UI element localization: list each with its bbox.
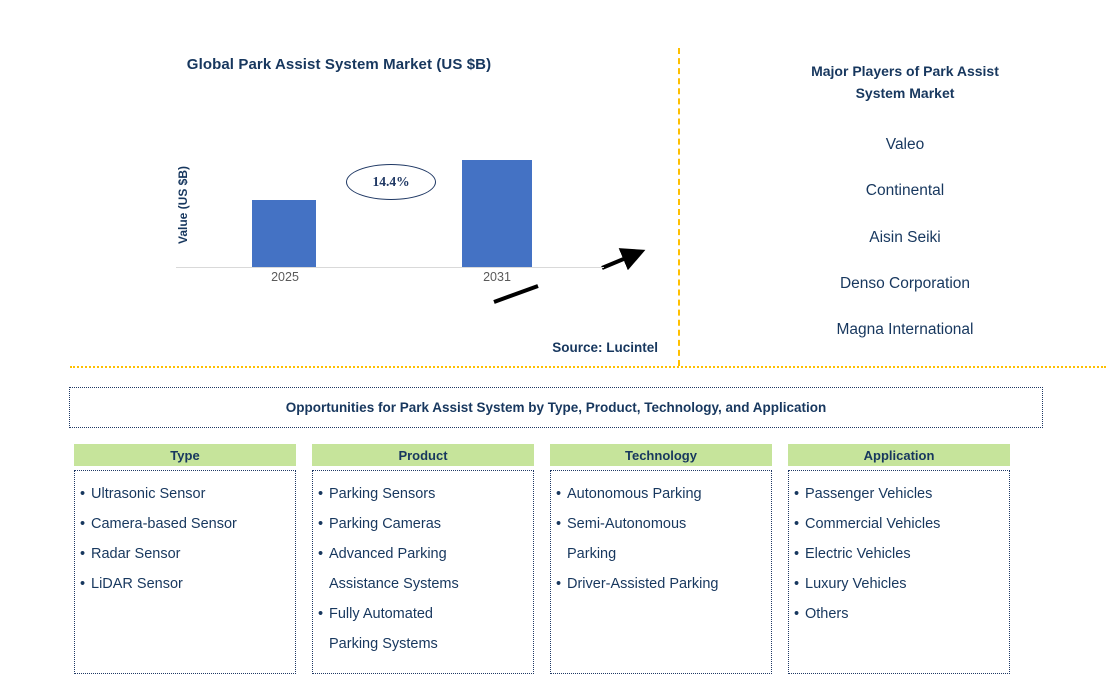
list-item: Semi-Autonomous Parking [555, 509, 767, 569]
list-item: Luxury Vehicles [793, 569, 1005, 599]
list-item: Electric Vehicles [793, 539, 1005, 569]
player-name: Magna International [710, 321, 1100, 339]
major-players-title-line-2: System Market [856, 85, 955, 101]
player-name: Denso Corporation [710, 275, 1100, 293]
list-item: Autonomous Parking [555, 479, 767, 509]
x-tick-label-2031: 2031 [452, 270, 542, 284]
major-players-title: Major Players of Park Assist System Mark… [780, 60, 1030, 104]
player-name: Aisin Seiki [710, 229, 1100, 247]
column-list-application: Passenger Vehicles Commercial Vehicles E… [793, 479, 1005, 629]
column-body-technology: Autonomous Parking Semi-Autonomous Parki… [550, 470, 772, 674]
column-header-product: Product [312, 444, 534, 466]
list-item: Camera-based Sensor [79, 509, 291, 539]
list-item: Fully Automated Parking Systems [317, 599, 529, 659]
opportunity-column-type: Type Ultrasonic Sensor Camera-based Sens… [74, 444, 296, 676]
list-item: Ultrasonic Sensor [79, 479, 291, 509]
column-body-product: Parking Sensors Parking Cameras Advanced… [312, 470, 534, 674]
column-header-application: Application [788, 444, 1010, 466]
list-item: Radar Sensor [79, 539, 291, 569]
opportunity-columns: Type Ultrasonic Sensor Camera-based Sens… [74, 444, 1018, 676]
opportunity-column-product: Product Parking Sensors Parking Cameras … [312, 444, 534, 676]
list-item: Parking Cameras [317, 509, 529, 539]
opportunity-column-application: Application Passenger Vehicles Commercia… [788, 444, 1010, 676]
list-item: Advanced Parking Assistance Systems [317, 539, 529, 599]
x-tick-label-2025: 2025 [240, 270, 330, 284]
horizontal-divider [70, 366, 1106, 368]
list-item: Passenger Vehicles [793, 479, 1005, 509]
column-body-type: Ultrasonic Sensor Camera-based Sensor Ra… [74, 470, 296, 674]
list-item: Commercial Vehicles [793, 509, 1005, 539]
opportunity-column-technology: Technology Autonomous Parking Semi-Auton… [550, 444, 772, 676]
chart-axis-line [176, 267, 604, 268]
opportunities-banner: Opportunities for Park Assist System by … [69, 387, 1043, 428]
cagr-badge: 14.4% [346, 164, 436, 200]
major-players-panel: Major Players of Park Assist System Mark… [690, 0, 1106, 366]
vertical-divider [678, 48, 680, 366]
column-list-technology: Autonomous Parking Semi-Autonomous Parki… [555, 479, 767, 599]
major-players-title-line-1: Major Players of Park Assist [811, 63, 999, 79]
chart-title: Global Park Assist System Market (US $B) [0, 56, 678, 73]
column-list-type: Ultrasonic Sensor Camera-based Sensor Ra… [79, 479, 291, 599]
column-list-product: Parking Sensors Parking Cameras Advanced… [317, 479, 529, 659]
column-body-application: Passenger Vehicles Commercial Vehicles E… [788, 470, 1010, 674]
list-item: Parking Sensors [317, 479, 529, 509]
player-name: Continental [710, 182, 1100, 200]
opportunities-banner-text: Opportunities for Park Assist System by … [286, 400, 827, 415]
column-header-type: Type [74, 444, 296, 466]
market-chart-panel: Global Park Assist System Market (US $B)… [0, 0, 678, 368]
list-item: Others [793, 599, 1005, 629]
source-attribution: Source: Lucintel [360, 340, 658, 355]
list-item: Driver-Assisted Parking [555, 569, 767, 599]
player-name: Valeo [710, 136, 1100, 154]
column-header-technology: Technology [550, 444, 772, 466]
bar-2025 [252, 200, 316, 268]
list-item: LiDAR Sensor [79, 569, 291, 599]
